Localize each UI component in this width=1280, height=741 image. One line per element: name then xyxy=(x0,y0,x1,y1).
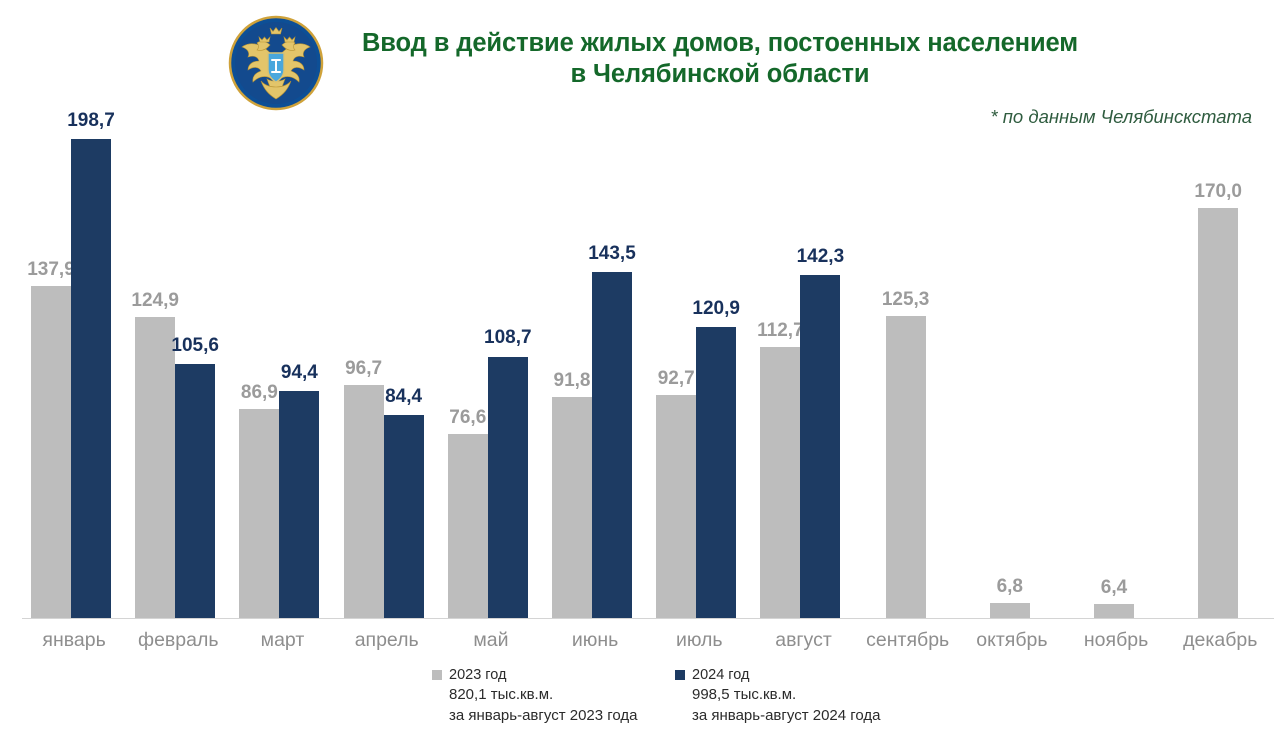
bar-2024-февраль[interactable] xyxy=(175,364,215,619)
bar-2023-август[interactable] xyxy=(760,347,800,619)
legend-swatch-icon-2024 xyxy=(675,670,685,680)
legend-item-2024[interactable]: 2024 год 998,5 тыс.кв.м. за январь-авгус… xyxy=(675,666,881,726)
axis-label-май: май xyxy=(439,629,543,652)
x-axis-line xyxy=(22,618,1274,619)
bar-2023-ноябрь[interactable] xyxy=(1094,604,1134,619)
bar-value-label-2023: 6,8 xyxy=(965,576,1055,598)
bar-2024-январь[interactable] xyxy=(71,139,111,619)
axis-label-июнь: июнь xyxy=(543,629,647,652)
bar-group: 96,784,4 xyxy=(335,140,439,619)
axis-label-июль: июль xyxy=(647,629,751,652)
bar-2023-июнь[interactable] xyxy=(552,397,592,619)
bar-2024-май[interactable] xyxy=(488,357,528,620)
bar-group: 125,3 xyxy=(856,140,960,619)
chart-header: Ввод в действие жилых домов, постоенных … xyxy=(0,0,1280,140)
legend-swatch-icon-2023 xyxy=(432,670,442,680)
bar-2023-март[interactable] xyxy=(239,409,279,619)
bar-value-label-2024: 84,4 xyxy=(359,386,449,408)
chart-legend: 2023 год 820,1 тыс.кв.м. за январь-авгус… xyxy=(432,666,952,736)
axis-label-февраль: февраль xyxy=(126,629,230,652)
bar-value-label-2024: 105,6 xyxy=(150,335,240,357)
bar-group: 137,9198,7 xyxy=(22,140,126,619)
bar-2023-июль[interactable] xyxy=(656,395,696,619)
bar-value-label-2024: 143,5 xyxy=(567,243,657,265)
page-title: Ввод в действие жилых домов, постоенных … xyxy=(360,28,1080,90)
legend-label-2024: 2024 год xyxy=(692,667,749,683)
legend-item-2023[interactable]: 2023 год 820,1 тыс.кв.м. за январь-авгус… xyxy=(432,666,638,726)
legend-total-2023: 820,1 тыс.кв.м. xyxy=(449,684,638,705)
bar-group: 6,8 xyxy=(960,140,1064,619)
axis-label-апрель: апрель xyxy=(335,629,439,652)
axis-label-сентябрь: сентябрь xyxy=(856,629,960,652)
axis-label-декабрь: декабрь xyxy=(1168,629,1272,652)
bar-2023-май[interactable] xyxy=(448,434,488,619)
bar-value-label-2023: 125,3 xyxy=(861,289,951,311)
bar-2023-октябрь[interactable] xyxy=(990,603,1030,619)
axis-label-ноябрь: ноябрь xyxy=(1064,629,1168,652)
bar-2023-сентябрь[interactable] xyxy=(886,316,926,619)
x-axis-labels: январьфевральмартапрельмайиюньиюльавгуст… xyxy=(0,629,1280,659)
bar-2023-апрель[interactable] xyxy=(344,385,384,619)
bar-2024-август[interactable] xyxy=(800,275,840,619)
bar-group: 92,7120,9 xyxy=(647,140,751,619)
legend-total-2024: 998,5 тыс.кв.м. xyxy=(692,684,881,705)
bar-group: 112,7142,3 xyxy=(751,140,855,619)
legend-period-2023: за январь-август 2023 года xyxy=(449,705,638,726)
bar-value-label-2023: 96,7 xyxy=(319,358,409,380)
axis-label-октябрь: октябрь xyxy=(960,629,1064,652)
source-note: * по данным Челябинскстата xyxy=(990,106,1252,128)
axis-label-август: август xyxy=(751,629,855,652)
rosstat-emblem-icon xyxy=(228,15,324,111)
bar-2023-декабрь[interactable] xyxy=(1198,208,1238,619)
bar-value-label-2023: 6,4 xyxy=(1069,577,1159,599)
bar-2024-март[interactable] xyxy=(279,391,319,619)
bar-group: 6,4 xyxy=(1064,140,1168,619)
bar-value-label-2023: 170,0 xyxy=(1173,181,1263,203)
bar-2024-апрель[interactable] xyxy=(384,415,424,619)
bar-value-label-2024: 198,7 xyxy=(46,110,136,132)
legend-label-2023: 2023 год xyxy=(449,667,506,683)
bar-chart-plot: 137,9198,7124,9105,686,994,496,784,476,6… xyxy=(0,140,1280,619)
axis-label-январь: январь xyxy=(22,629,126,652)
axis-label-март: март xyxy=(230,629,334,652)
bar-value-label-2024: 120,9 xyxy=(671,298,761,320)
bar-group: 170,0 xyxy=(1168,140,1272,619)
bar-2023-февраль[interactable] xyxy=(135,317,175,619)
bar-value-label-2023: 124,9 xyxy=(110,290,200,312)
bar-2023-январь[interactable] xyxy=(31,286,71,619)
bar-value-label-2024: 108,7 xyxy=(463,327,553,349)
bar-2024-июнь[interactable] xyxy=(592,272,632,619)
bar-group: 124,9105,6 xyxy=(126,140,230,619)
legend-period-2024: за январь-август 2024 года xyxy=(692,705,881,726)
bar-value-label-2024: 142,3 xyxy=(775,246,865,268)
bar-2024-июль[interactable] xyxy=(696,327,736,619)
